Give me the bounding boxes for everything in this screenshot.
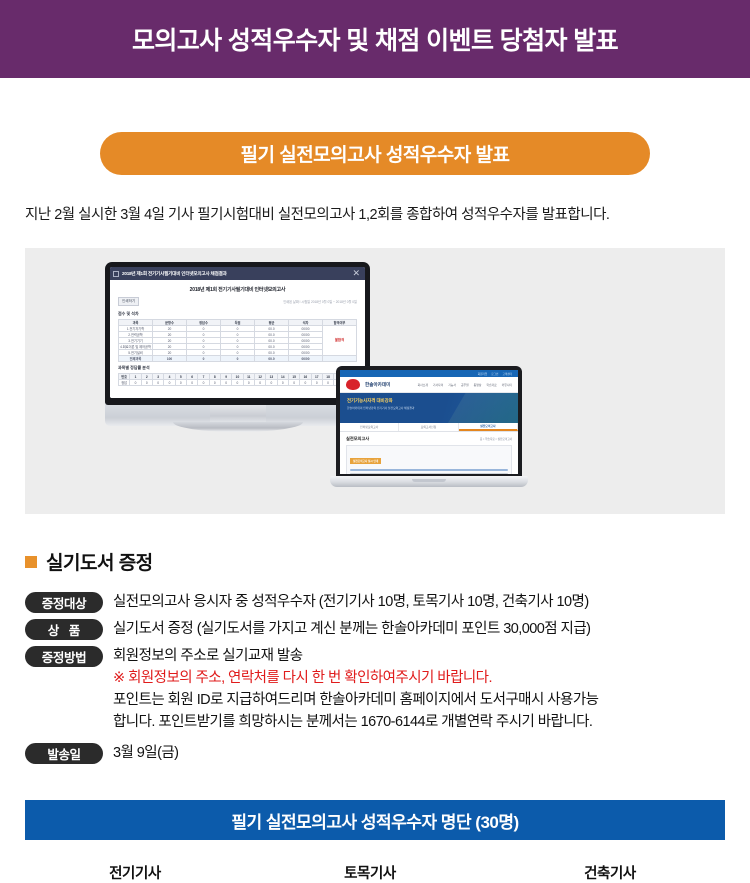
analysis-cell: 0 [254,380,265,386]
table-row-total: 전체과목 100 0 0 00.0 00/00 [119,356,357,362]
gift-method-line3: 합니다. 포인트받기를 희망하시는 분께서는 1670-6144로 개별연락 주… [113,711,598,733]
column-header-architecture: 건축기사 [495,862,725,883]
gift-prize-text: 실기도서 증정 (실기도서를 가지고 계신 분께는 한솔아카데미 포인트 30,… [113,618,590,640]
gift-method-line2: 포인트는 회원 ID로 지급하여드리며 한솔아카데미 홈페이지에서 도서구매시 … [113,689,598,711]
analysis-cell: 0 [164,380,175,386]
analysis-cell: 0 [220,380,231,386]
result-meta: 인쇄된 날짜 l 시험일 2018년 0월 0일 ~ 2018년 0월 0일 [283,299,357,304]
site-brand: 한솔아카데미 [365,382,390,388]
score-cell: 0 [221,356,255,362]
analysis-cell: 0 [141,380,152,386]
gift-section-heading: 실기도서 증정 [25,548,153,575]
result-window-titlebar: 2018년 제1회 전기기사필기대비 인터넷모의고사 채점결과 ✕ [110,267,365,280]
close-icon[interactable]: ✕ [352,269,362,278]
notice-card: 실전모의고사 실시 안내 [346,445,512,474]
score-cell: 4.회로이론 및 제어공학 [119,344,153,350]
page-title: 모의고사 성적우수자 및 채점 이벤트 당첨자 발표 [132,21,618,57]
gift-section-title: 실기도서 증정 [46,548,153,575]
result-subrow: 인쇄하기 인쇄된 날짜 l 시험일 2018년 0월 0일 ~ 2018년 0월… [118,297,357,306]
content-title: 실전모의고사 [346,436,369,442]
analysis-cell: 정답 [119,380,130,386]
device-mockup-image: 2018년 제1회 전기기사필기대비 인터넷모의고사 채점결과 ✕ 2018년 … [25,248,725,514]
score-section-label: 점수 및 석차 [118,311,357,317]
score-cell: 100 [153,356,187,362]
nav-item[interactable]: 기사자격 [433,383,443,387]
window-app-icon [113,271,119,277]
analysis-cell: 0 [277,380,288,386]
breadcrumb: 홈 > 학습자료 > 실전모의고사 [480,437,512,441]
gift-target-text: 실전모의고사 응시자 중 성적우수자 (전기기사 10명, 토목기사 10명, … [113,591,589,613]
result-window-body: 2018년 제1회 전기기사필기대비 인터넷모의고사 인쇄하기 인쇄된 날짜 l… [110,280,365,398]
laptop-base [330,476,528,487]
utility-link[interactable]: 로그인 [491,372,498,376]
score-table: 과목 문항수 정답수 득점 평균 석차 합격여부 [118,319,357,362]
laptop-trackpad-notch [412,479,446,482]
nav-item[interactable]: 공무원 [461,383,469,387]
site-content: 실전모의고사 홈 > 학습자료 > 실전모의고사 실전모의고사 실시 안내 [340,432,518,474]
analysis-section-label: 과목별 정답률 분석 [118,365,357,371]
text-line [350,473,508,474]
site-tabs: 인터넷모의고사 모의고사신청 실전모의고사 [340,423,518,432]
analysis-cell: 0 [198,380,209,386]
nav-item[interactable]: 회사소개 [418,383,428,387]
analysis-cell: 0 [232,380,243,386]
analysis-answer-row: 정답 0 0 0 0 0 0 0 0 0 0 0 [119,380,357,386]
utility-link[interactable]: 고객센터 [502,372,512,376]
nav-item[interactable]: 학습자료 [486,383,496,387]
laptop-screen: 회원가입 로그인 고객센터 한솔아카데미 회사소개 기사자격 기능사 공무원 동… [340,370,518,474]
pass-stamp: 불합격 [335,338,344,342]
analysis-cell: 0 [243,380,254,386]
print-button[interactable]: 인쇄하기 [118,297,139,306]
nav-item[interactable]: 기능사 [448,383,456,387]
analysis-cell: 0 [175,380,186,386]
list-item: 증정대상 실전모의고사 응시자 중 성적우수자 (전기기사 10명, 토목기사 … [25,591,725,613]
gift-info-list: 증정대상 실전모의고사 응시자 중 성적우수자 (전기기사 10명, 토목기사 … [25,591,725,769]
tab-practice-mock[interactable]: 실전모의고사 [459,423,518,431]
nav-item[interactable]: 커뮤니티 [502,383,512,387]
site-hero-banner: 전기기능사자격 대비강좌 한솔아카데미 인터넷강의 전기기사 실전모의고사 채점… [340,393,518,423]
analysis-cell: 0 [130,380,141,386]
pass-stamp-cell: 불합격 [323,326,357,356]
analysis-cell: 0 [209,380,220,386]
analysis-cell: 0 [266,380,277,386]
score-cell: 0 [187,356,221,362]
label-badge-prize: 상 품 [25,619,103,640]
column-header-electric: 전기기사 [25,862,245,883]
announce-button-label: 필기 실전모의고사 성적우수자 발표 [240,140,509,167]
analysis-cell: 0 [152,380,163,386]
nav-item[interactable]: 동영상 [474,383,482,387]
gift-method-warning: ※ 회원정보의 주소, 연락처를 다시 한 번 확인하여주시기 바랍니다. [113,667,598,689]
monitor-screen: 2018년 제1회 전기기사필기대비 인터넷모의고사 채점결과 ✕ 2018년 … [110,267,365,398]
page-header-bar: 모의고사 성적우수자 및 채점 이벤트 당첨자 발표 [0,0,750,78]
label-badge-method: 증정방법 [25,646,103,667]
intro-text: 지난 2월 실시한 3월 4일 기사 필기시험대비 실전모의고사 1,2회를 종… [25,203,725,224]
list-item: 상 품 실기도서 증정 (실기도서를 가지고 계신 분께는 한솔아카데미 포인트… [25,618,725,640]
winner-list-banner: 필기 실전모의고사 성적우수자 명단 (30명) [25,800,725,840]
site-utility-bar: 회원가입 로그인 고객센터 [340,370,518,377]
gift-method-text: 회원정보의 주소로 실기교재 발송 ※ 회원정보의 주소, 연락처를 다시 한 … [113,645,598,733]
tab-mock-apply[interactable]: 모의고사신청 [399,423,458,431]
result-doc-heading: 2018년 제1회 전기기사필기대비 인터넷모의고사 [118,286,357,293]
announce-button[interactable]: 필기 실전모의고사 성적우수자 발표 [100,132,650,175]
tab-internet-mock[interactable]: 인터넷모의고사 [340,423,399,431]
site-nav-menu: 회사소개 기사자격 기능사 공무원 동영상 학습자료 커뮤니티 [418,383,512,387]
notice-badge: 실전모의고사 실시 안내 [350,458,381,464]
score-cell: 00/00 [289,356,323,362]
content-heading-row: 실전모의고사 홈 > 학습자료 > 실전모의고사 [346,436,512,442]
list-item: 증정방법 회원정보의 주소로 실기교재 발송 ※ 회원정보의 주소, 연락처를 … [25,645,725,733]
gift-method-line1: 회원정보의 주소로 실기교재 발송 [113,645,598,667]
analysis-cell: 0 [288,380,299,386]
laptop-mockup: 회원가입 로그인 고객센터 한솔아카데미 회사소개 기사자격 기능사 공무원 동… [330,366,528,494]
site-nav-bar: 한솔아카데미 회사소개 기사자격 기능사 공무원 동영상 학습자료 커뮤니티 [340,377,518,393]
label-badge-target: 증정대상 [25,592,103,613]
analysis-cell: 0 [311,380,322,386]
laptop-lid: 회원가입 로그인 고객센터 한솔아카데미 회사소개 기사자격 기능사 공무원 동… [336,366,522,478]
ship-date-text: 3월 9일(금) [113,742,178,764]
winner-column-headers: 전기기사 토목기사 건축기사 [25,862,725,883]
score-cell: 전체과목 [119,356,153,362]
score-cell: 00.0 [255,356,289,362]
analysis-cell: 0 [186,380,197,386]
monitor-base [173,422,303,432]
label-badge-shipdate: 발송일 [25,743,103,764]
result-window-title: 2018년 제1회 전기기사필기대비 인터넷모의고사 채점결과 [122,271,227,277]
site-logo-icon [346,379,360,390]
list-item: 발송일 3월 9일(금) [25,742,725,764]
analysis-table: 번호 1 2 3 4 5 6 7 8 9 10 [118,373,357,386]
announcement-page: 모의고사 성적우수자 및 채점 이벤트 당첨자 발표 필기 실전모의고사 성적우… [0,0,750,883]
column-header-civil: 토목기사 [245,862,495,883]
utility-link[interactable]: 회원가입 [478,372,488,376]
winner-list-banner-label: 필기 실전모의고사 성적우수자 명단 (30명) [231,808,518,833]
analysis-cell: 0 [300,380,311,386]
text-line [350,469,508,471]
square-bullet-icon [25,556,37,568]
score-cell [323,356,357,362]
